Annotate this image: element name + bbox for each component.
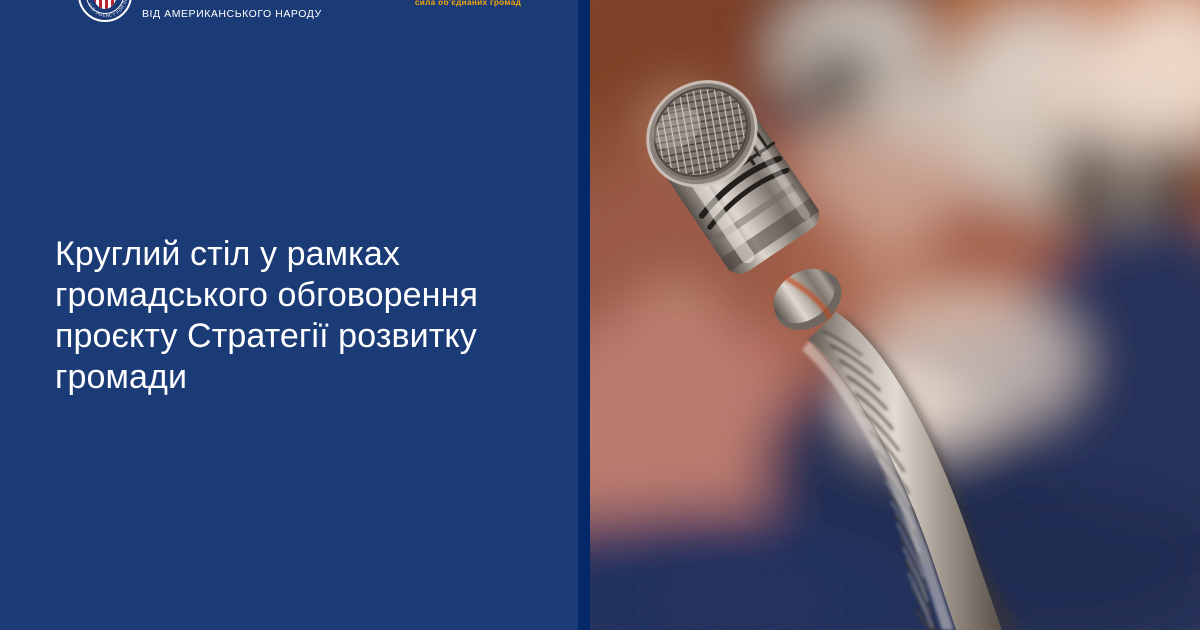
panel-edge-stripe (578, 0, 590, 630)
usaid-seal-icon: U.S. AGENCY FOR INTERNATIONAL DEVELOPMEN… (78, 0, 132, 22)
usaid-seal-ring-text: U.S. AGENCY FOR INTERNATIONAL DEVELOPMEN… (80, 0, 130, 20)
usaid-logo: U.S. AGENCY FOR INTERNATIONAL DEVELOPMEN… (78, 0, 322, 28)
boratyn-logo: БОРАТИН сила об'єднаних громад (398, 0, 538, 7)
usaid-tagline: ВІД АМЕРИКАНСЬКОГО НАРОДУ (142, 8, 322, 20)
page-title: Круглий стіл у рамках громадського обгов… (55, 234, 535, 398)
usaid-wordmark: USAID (142, 0, 322, 5)
social-card: U.S. AGENCY FOR INTERNATIONAL DEVELOPMEN… (0, 0, 1200, 630)
logo-row: U.S. AGENCY FOR INTERNATIONAL DEVELOPMEN… (0, 0, 578, 32)
conference-microphone-photo (590, 0, 1200, 630)
boratyn-tagline: сила об'єднаних громад (398, 0, 538, 7)
svg-text:U.S. AGENCY FOR INTERNATIONAL: U.S. AGENCY FOR INTERNATIONAL DEVELOPMEN… (80, 0, 128, 18)
usaid-wordmark-block: USAID ВІД АМЕРИКАНСЬКОГО НАРОДУ (142, 0, 322, 20)
